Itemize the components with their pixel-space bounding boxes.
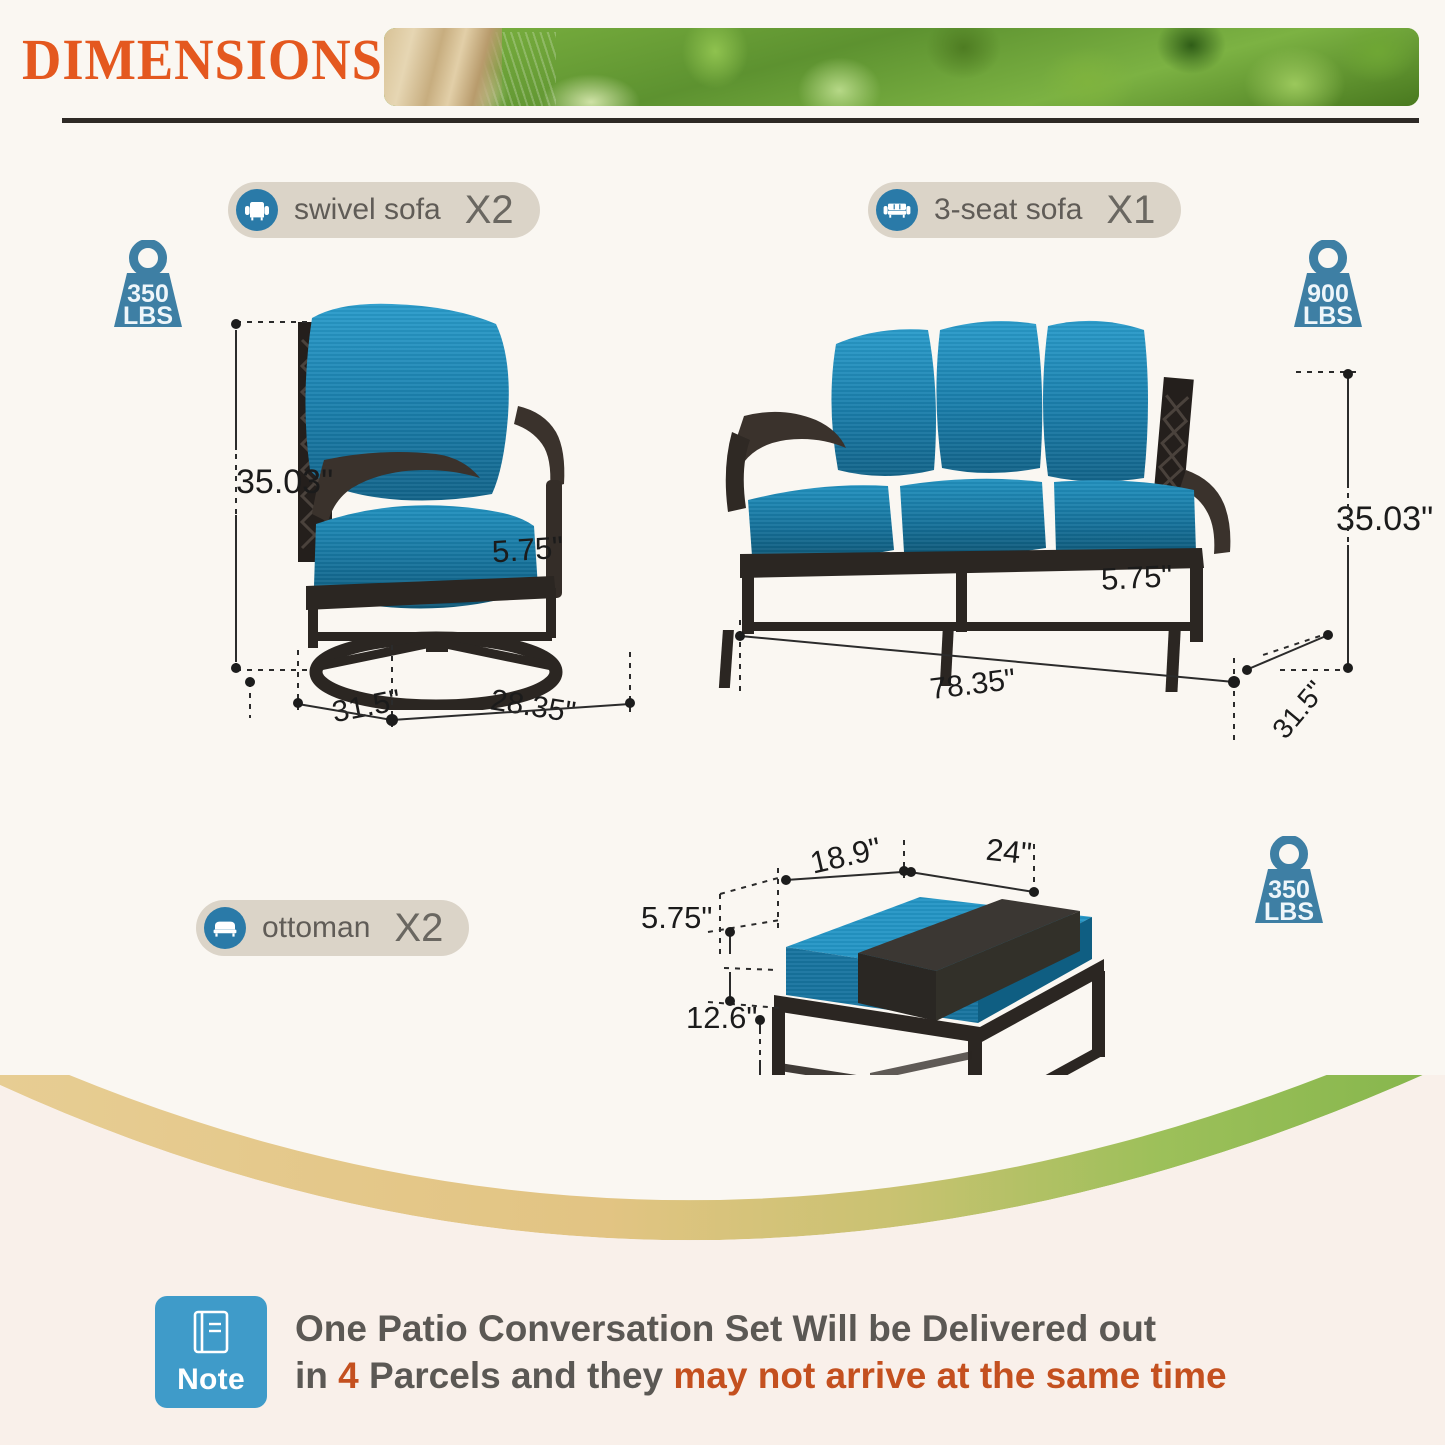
badge-label: swivel sofa (294, 193, 441, 227)
infographic-page: DIMENSIONS swivel sofa X2 (0, 0, 1445, 1445)
note-line-2: in 4 Parcels and they may not arrive at … (295, 1352, 1227, 1399)
parcel-count: 4 (338, 1355, 359, 1396)
badge-ottoman: ottoman X2 (196, 900, 469, 956)
badge-3-seat-sofa: 3-seat sofa X1 (868, 182, 1181, 238)
header-banner-photo (384, 28, 1419, 106)
weight-badge-swivel-sofa: 350 LBS (106, 240, 190, 332)
badge-label: 3-seat sofa (934, 193, 1082, 227)
header: DIMENSIONS (0, 0, 1445, 132)
armchair-icon (236, 189, 278, 231)
badge-label: ottoman (262, 911, 370, 945)
weight-unit: LBS (1264, 898, 1314, 926)
page-title: DIMENSIONS (22, 26, 383, 93)
note-book-icon (188, 1308, 234, 1361)
note-badge: Note (155, 1296, 267, 1408)
badge-swivel-sofa: swivel sofa X2 (228, 182, 540, 238)
header-divider (62, 118, 1419, 123)
note-line-1: One Patio Conversation Set Will be Deliv… (295, 1305, 1227, 1352)
weight-unit: LBS (123, 302, 173, 330)
badge-qty: X1 (1106, 188, 1155, 233)
badge-qty: X2 (465, 188, 514, 233)
swivel-dimension-lines (200, 300, 680, 750)
badge-qty: X2 (394, 906, 443, 951)
note-section: Note One Patio Conversation Set Will be … (155, 1296, 1227, 1408)
note-badge-label: Note (177, 1363, 245, 1397)
sofa-icon (876, 189, 918, 231)
weight-badge-ottoman: 350 LBS (1247, 836, 1331, 928)
curtain-drape (384, 28, 502, 106)
note-text: One Patio Conversation Set Will be Deliv… (295, 1305, 1227, 1400)
note-highlight: may not arrive at the same time (673, 1355, 1226, 1396)
sofa-dimension-lines (700, 340, 1390, 760)
ottoman-icon (204, 907, 246, 949)
